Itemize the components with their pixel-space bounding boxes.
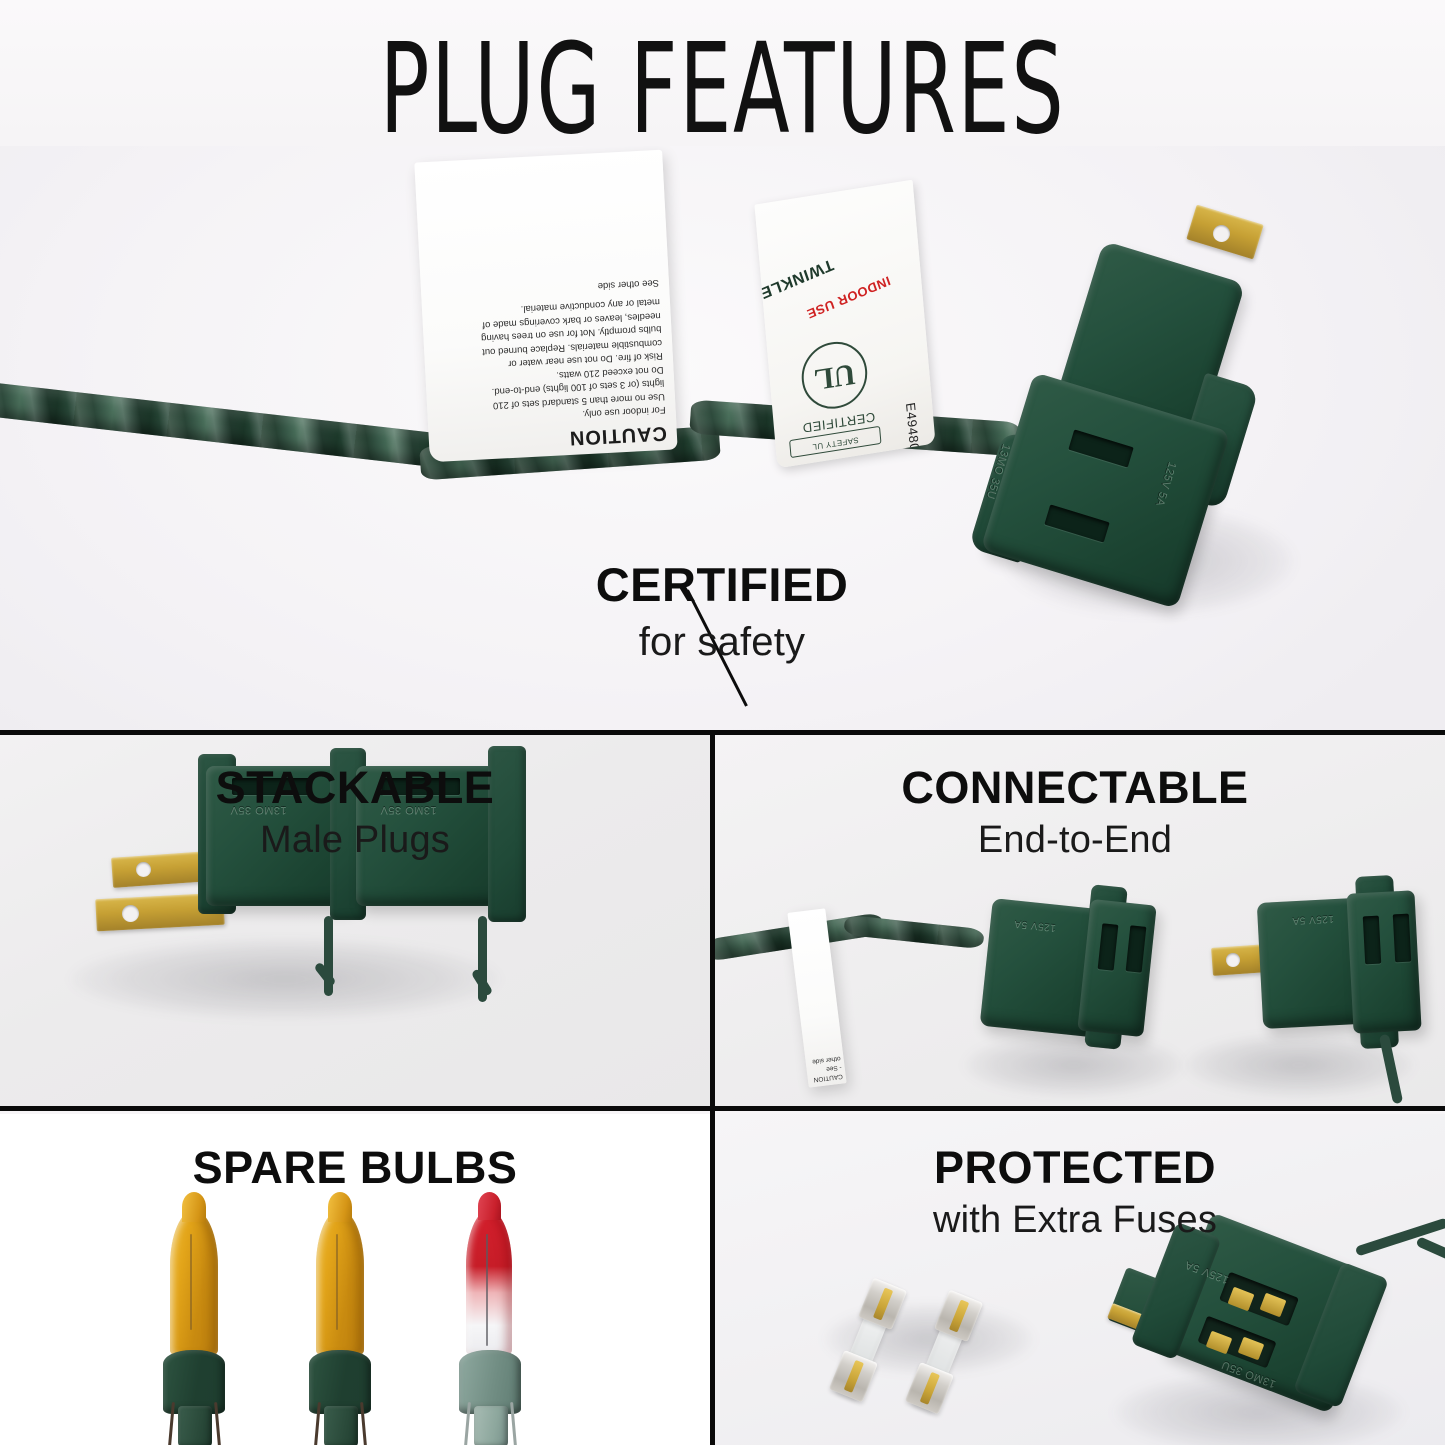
bulb-1-foot — [178, 1406, 212, 1445]
bulb-3-tip — [478, 1192, 501, 1220]
stackable-caption-sub: Male Plugs — [35, 820, 675, 862]
bulb-3-filament — [486, 1234, 488, 1346]
cord-twisted-left — [0, 382, 450, 469]
ul-file-number: E494800 9 — [903, 402, 924, 469]
connectable-right-slot-lower — [1393, 914, 1411, 963]
caution-tag-text-block: CAUTION For indoor use only. Use no more… — [414, 150, 677, 463]
ul-label-inner: SAFETY UL CERTIFIED UL E494800 9 INDOOR … — [754, 180, 935, 469]
connectable-caption-sub: End-to-End — [745, 820, 1405, 862]
bulb-3-glass — [466, 1210, 512, 1358]
divider-vertical — [710, 730, 715, 1445]
ul-indoor-use-text: INDOOR USE — [805, 273, 893, 322]
hero-caption-head: CERTIFIED — [422, 560, 1022, 609]
caution-body: For indoor use only. Use no more than 5 … — [431, 275, 666, 428]
protected-plug-cord-2 — [1415, 1236, 1445, 1278]
divider-horizontal-bottom — [0, 1106, 1445, 1111]
connectable-right-slot-upper — [1363, 916, 1381, 965]
ul-brand-text: TWINKLE — [757, 254, 835, 301]
ul-certification-label: SAFETY UL CERTIFIED UL E494800 9 INDOOR … — [754, 180, 935, 469]
connectable-caption-head: CONNECTABLE — [745, 764, 1405, 811]
bulb-3-foot — [474, 1406, 508, 1445]
connectable-right-emboss: 125V 5A — [1292, 913, 1334, 926]
stackable-prong-lower-hole — [122, 905, 139, 922]
connectable-right-face — [1346, 890, 1421, 1033]
stackable-shadow — [70, 939, 500, 1019]
divider-horizontal-top — [0, 730, 1445, 735]
page-title: PLUG FEATURES — [159, 26, 1286, 151]
connectable-tag-line: CAUTION - See other side — [808, 1053, 843, 1083]
connectable-left-face — [1077, 899, 1156, 1037]
bulb-2-filament — [336, 1234, 338, 1330]
caution-title: CAUTION — [438, 421, 667, 456]
bulb-2-tip — [328, 1192, 352, 1222]
stackable-caption-head: STACKABLE — [35, 764, 675, 811]
connectable-shadow-left — [964, 1034, 1184, 1096]
protected-caption-sub: with Extra Fuses — [745, 1200, 1405, 1242]
stackable-prong-upper-hole — [136, 862, 151, 877]
infographic-root: PLUG FEATURES CAUTION For indoor use onl… — [0, 0, 1445, 1445]
protected-caption-head: PROTECTED — [745, 1144, 1405, 1191]
connectable-cord-2 — [843, 915, 984, 950]
bulb-1-glass — [170, 1210, 218, 1358]
bulb-2-glass — [316, 1210, 364, 1358]
hero-caption-sub: for safety — [422, 620, 1022, 664]
caution-tag: CAUTION For indoor use only. Use no more… — [414, 150, 677, 463]
bulb-1-filament — [190, 1234, 192, 1330]
bulb-1-tip — [182, 1192, 206, 1222]
bulb-2-foot — [324, 1406, 358, 1445]
connectable-right-prong-hole — [1226, 953, 1240, 967]
spare-bulbs-caption-head: SPARE BULBS — [25, 1144, 685, 1191]
ul-logo-icon: UL — [799, 337, 870, 413]
